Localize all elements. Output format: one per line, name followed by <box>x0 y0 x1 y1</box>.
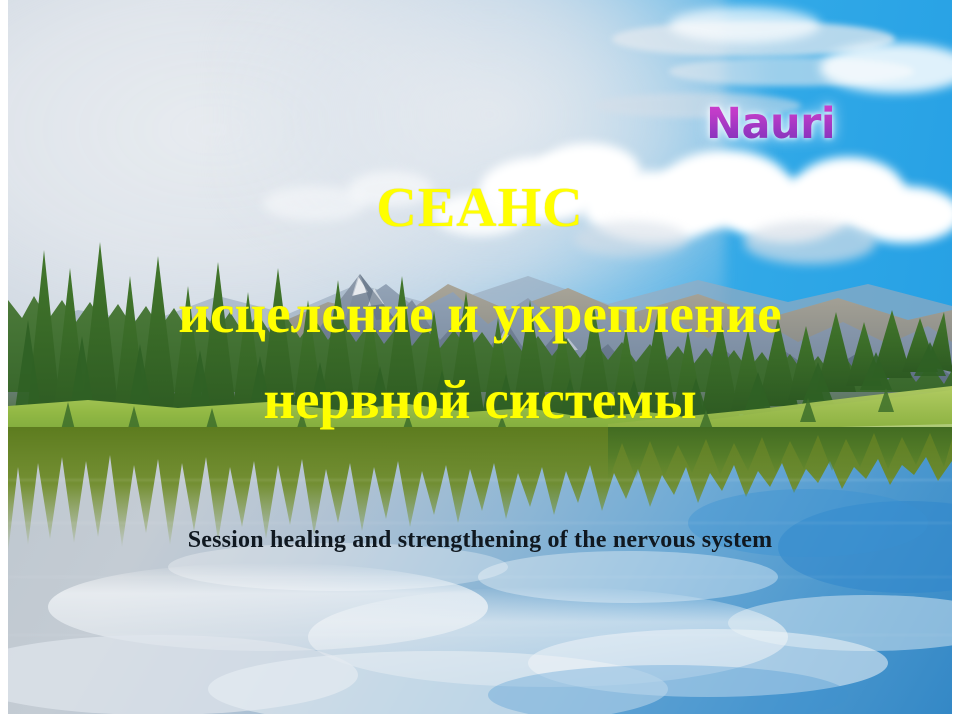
title-line-2: исцеление и укрепление <box>0 282 960 345</box>
slide-canvas: Nauri СЕАНС исцеление и укрепление нервн… <box>0 0 960 720</box>
subtitle-english: Session healing and strengthening of the… <box>0 527 960 554</box>
text-overlay: Nauri СЕАНС исцеление и укрепление нервн… <box>0 0 960 720</box>
title-line-3: нервной системы <box>0 368 960 431</box>
title-line-1: СЕАНС <box>0 176 960 240</box>
nauri-logo: Nauri <box>706 99 835 149</box>
